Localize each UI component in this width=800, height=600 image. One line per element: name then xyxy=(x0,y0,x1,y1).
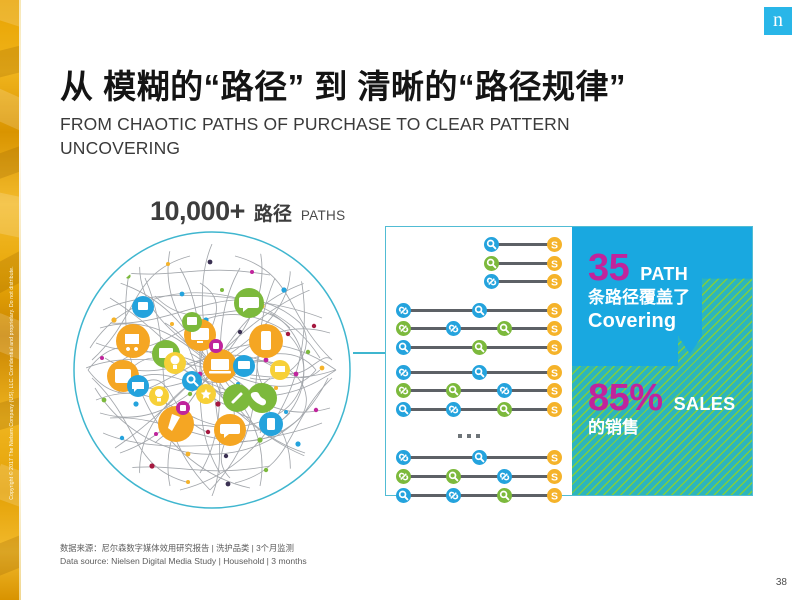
svg-text:S: S xyxy=(551,277,558,289)
link-icon xyxy=(446,321,461,336)
path-row: S xyxy=(396,469,562,484)
node-cart-icon xyxy=(116,324,150,358)
link-icon xyxy=(396,303,411,318)
path-row: S xyxy=(396,303,562,318)
svg-text:S: S xyxy=(551,386,558,398)
search-icon xyxy=(484,237,499,252)
stat-number: 85% xyxy=(588,379,663,417)
path-segment xyxy=(460,389,497,392)
search-icon xyxy=(497,488,512,503)
path-segment xyxy=(486,456,549,459)
search-icon xyxy=(396,340,411,355)
svg-text:S: S xyxy=(551,453,558,465)
path-segment xyxy=(410,408,447,411)
path-segment xyxy=(511,494,548,497)
path-segment xyxy=(486,371,549,374)
svg-text:S: S xyxy=(551,258,558,270)
path-segment xyxy=(410,494,447,497)
path-rows-list: SSSSSSSSSSSS xyxy=(386,227,574,495)
node-bulb-icon-2 xyxy=(149,386,169,406)
node-star-icon xyxy=(196,384,216,404)
network-svg xyxy=(70,228,355,513)
paths-count-label-cn: 路径 xyxy=(254,199,292,226)
path-segment xyxy=(486,309,549,312)
path-row: S xyxy=(484,274,562,289)
link-icon xyxy=(484,274,499,289)
node-small-monitor-icon xyxy=(132,296,154,318)
data-source-note: 数据来源：尼尔森数字媒体效用研究报告 | 洗护品类 | 3个月监测 Data s… xyxy=(60,542,307,568)
dollar-icon: S xyxy=(547,488,562,503)
path-segment xyxy=(511,389,548,392)
search-icon xyxy=(497,321,512,336)
dollar-icon: S xyxy=(547,321,562,336)
path-segment xyxy=(410,327,447,330)
dollar-icon: S xyxy=(547,383,562,398)
page-title-english: FROM CHAOTIC PATHS OF PURCHASE TO CLEAR … xyxy=(60,112,680,160)
path-segment xyxy=(460,408,497,411)
link-icon xyxy=(396,321,411,336)
path-row: S xyxy=(396,321,562,336)
link-icon xyxy=(446,488,461,503)
path-segment xyxy=(410,456,473,459)
search-icon xyxy=(472,450,487,465)
path-segment xyxy=(498,243,548,246)
stat-line-en: Covering xyxy=(588,309,690,333)
path-segment xyxy=(410,309,473,312)
search-icon xyxy=(497,402,512,417)
paths-count-number: 10,000+ xyxy=(150,196,245,227)
pattern-panel: SSSSSSSSSSSS 35PATH条路径覆盖了Covering85%SALE… xyxy=(385,226,753,496)
path-row: S xyxy=(396,340,562,355)
path-segment xyxy=(460,494,497,497)
path-segment xyxy=(511,475,548,478)
path-segment xyxy=(410,346,473,349)
path-row: S xyxy=(396,383,562,398)
dollar-icon: S xyxy=(547,450,562,465)
link-icon xyxy=(497,469,512,484)
node-tv-icon-2 xyxy=(233,355,255,377)
page-number: 38 xyxy=(776,577,787,588)
node-mobile-icon xyxy=(249,324,283,358)
dollar-icon: S xyxy=(547,303,562,318)
stat-label-en: SALES xyxy=(674,394,736,415)
paths-count-label-en: PATHS xyxy=(301,208,346,223)
stat-block: 35PATH条路径覆盖了Covering xyxy=(588,249,690,333)
stat-headline: 35PATH xyxy=(588,249,690,287)
node-small-pink-icon-2 xyxy=(176,401,190,415)
stat-headline: 85%SALES xyxy=(588,379,736,417)
path-segment xyxy=(410,389,447,392)
link-icon xyxy=(446,402,461,417)
search-icon xyxy=(472,340,487,355)
path-row: S xyxy=(396,488,562,503)
dollar-icon: S xyxy=(547,402,562,417)
path-row: S xyxy=(484,237,562,252)
chaotic-network-graphic xyxy=(70,228,355,513)
search-icon xyxy=(446,469,461,484)
paths-count-label: 10,000+ 路径 PATHS xyxy=(150,196,345,227)
path-segment xyxy=(511,327,548,330)
decorative-gold-stripe: Copyright © 2017 The Nielsen Company (US… xyxy=(0,0,19,600)
stat-label-en: PATH xyxy=(640,264,688,285)
path-segment xyxy=(498,262,548,265)
node-chat-icon-2 xyxy=(214,414,246,446)
ellipsis-indicator xyxy=(458,434,480,438)
data-source-english: Data source: Nielsen Digital Media Study… xyxy=(60,555,307,568)
path-segment xyxy=(511,408,548,411)
svg-text:S: S xyxy=(551,367,558,379)
search-icon xyxy=(484,256,499,271)
path-row: S xyxy=(396,365,562,380)
link-icon xyxy=(396,450,411,465)
node-small-green-icon xyxy=(182,312,202,332)
search-icon xyxy=(396,488,411,503)
slide-canvas: Copyright © 2017 The Nielsen Company (US… xyxy=(0,0,800,600)
search-icon xyxy=(472,365,487,380)
svg-text:S: S xyxy=(551,342,558,354)
node-small-pink-icon xyxy=(209,339,223,353)
nielsen-logo-letter: n xyxy=(773,10,783,30)
dollar-icon: S xyxy=(547,256,562,271)
dollar-icon: S xyxy=(547,274,562,289)
stats-text-content: 35PATH条路径覆盖了Covering85%SALES的销售 xyxy=(572,227,752,495)
dollar-icon: S xyxy=(547,237,562,252)
link-icon xyxy=(396,383,411,398)
node-small-chat-icon xyxy=(127,375,149,397)
svg-text:S: S xyxy=(551,239,558,251)
link-icon xyxy=(396,365,411,380)
dollar-icon: S xyxy=(547,365,562,380)
path-segment xyxy=(410,475,447,478)
data-source-chinese: 数据来源：尼尔森数字媒体效用研究报告 | 洗护品类 | 3个月监测 xyxy=(60,542,307,555)
path-segment xyxy=(410,371,473,374)
node-phone-icon xyxy=(247,383,277,413)
node-bulb-icon xyxy=(164,352,186,374)
stat-block: 85%SALES的销售 xyxy=(588,379,736,439)
node-chat-icon xyxy=(234,288,264,318)
path-row: S xyxy=(484,256,562,271)
stripe-highlight-edge xyxy=(19,0,21,600)
svg-text:S: S xyxy=(551,305,558,317)
node-laptop-icon xyxy=(203,349,237,383)
search-icon xyxy=(446,383,461,398)
path-row: S xyxy=(396,402,562,417)
stat-line-cn: 的销售 xyxy=(588,417,736,439)
path-segment xyxy=(460,475,497,478)
search-icon xyxy=(472,303,487,318)
path-segment xyxy=(460,327,497,330)
copyright-notice: Copyright © 2017 The Nielsen Company (US… xyxy=(9,253,15,513)
search-icon xyxy=(396,402,411,417)
path-segment xyxy=(486,346,549,349)
svg-text:S: S xyxy=(551,404,558,416)
nielsen-logo: n xyxy=(764,7,792,35)
link-icon xyxy=(497,383,512,398)
stat-number: 35 xyxy=(588,249,629,287)
svg-text:S: S xyxy=(551,324,558,336)
svg-text:S: S xyxy=(551,490,558,502)
dollar-icon: S xyxy=(547,340,562,355)
page-title-chinese: 从 模糊的“路径” 到 清晰的“路径规律” xyxy=(60,68,760,106)
svg-text:S: S xyxy=(551,471,558,483)
path-row: S xyxy=(396,450,562,465)
node-small-blue-icon xyxy=(259,412,283,436)
link-icon xyxy=(396,469,411,484)
stats-block: 35PATH条路径覆盖了Covering85%SALES的销售 xyxy=(572,227,752,495)
dollar-icon: S xyxy=(547,469,562,484)
stat-line-cn: 条路径覆盖了 xyxy=(588,287,690,309)
node-cart-icon-2 xyxy=(270,360,290,380)
node-link-icon xyxy=(223,384,251,412)
path-segment xyxy=(498,280,548,283)
